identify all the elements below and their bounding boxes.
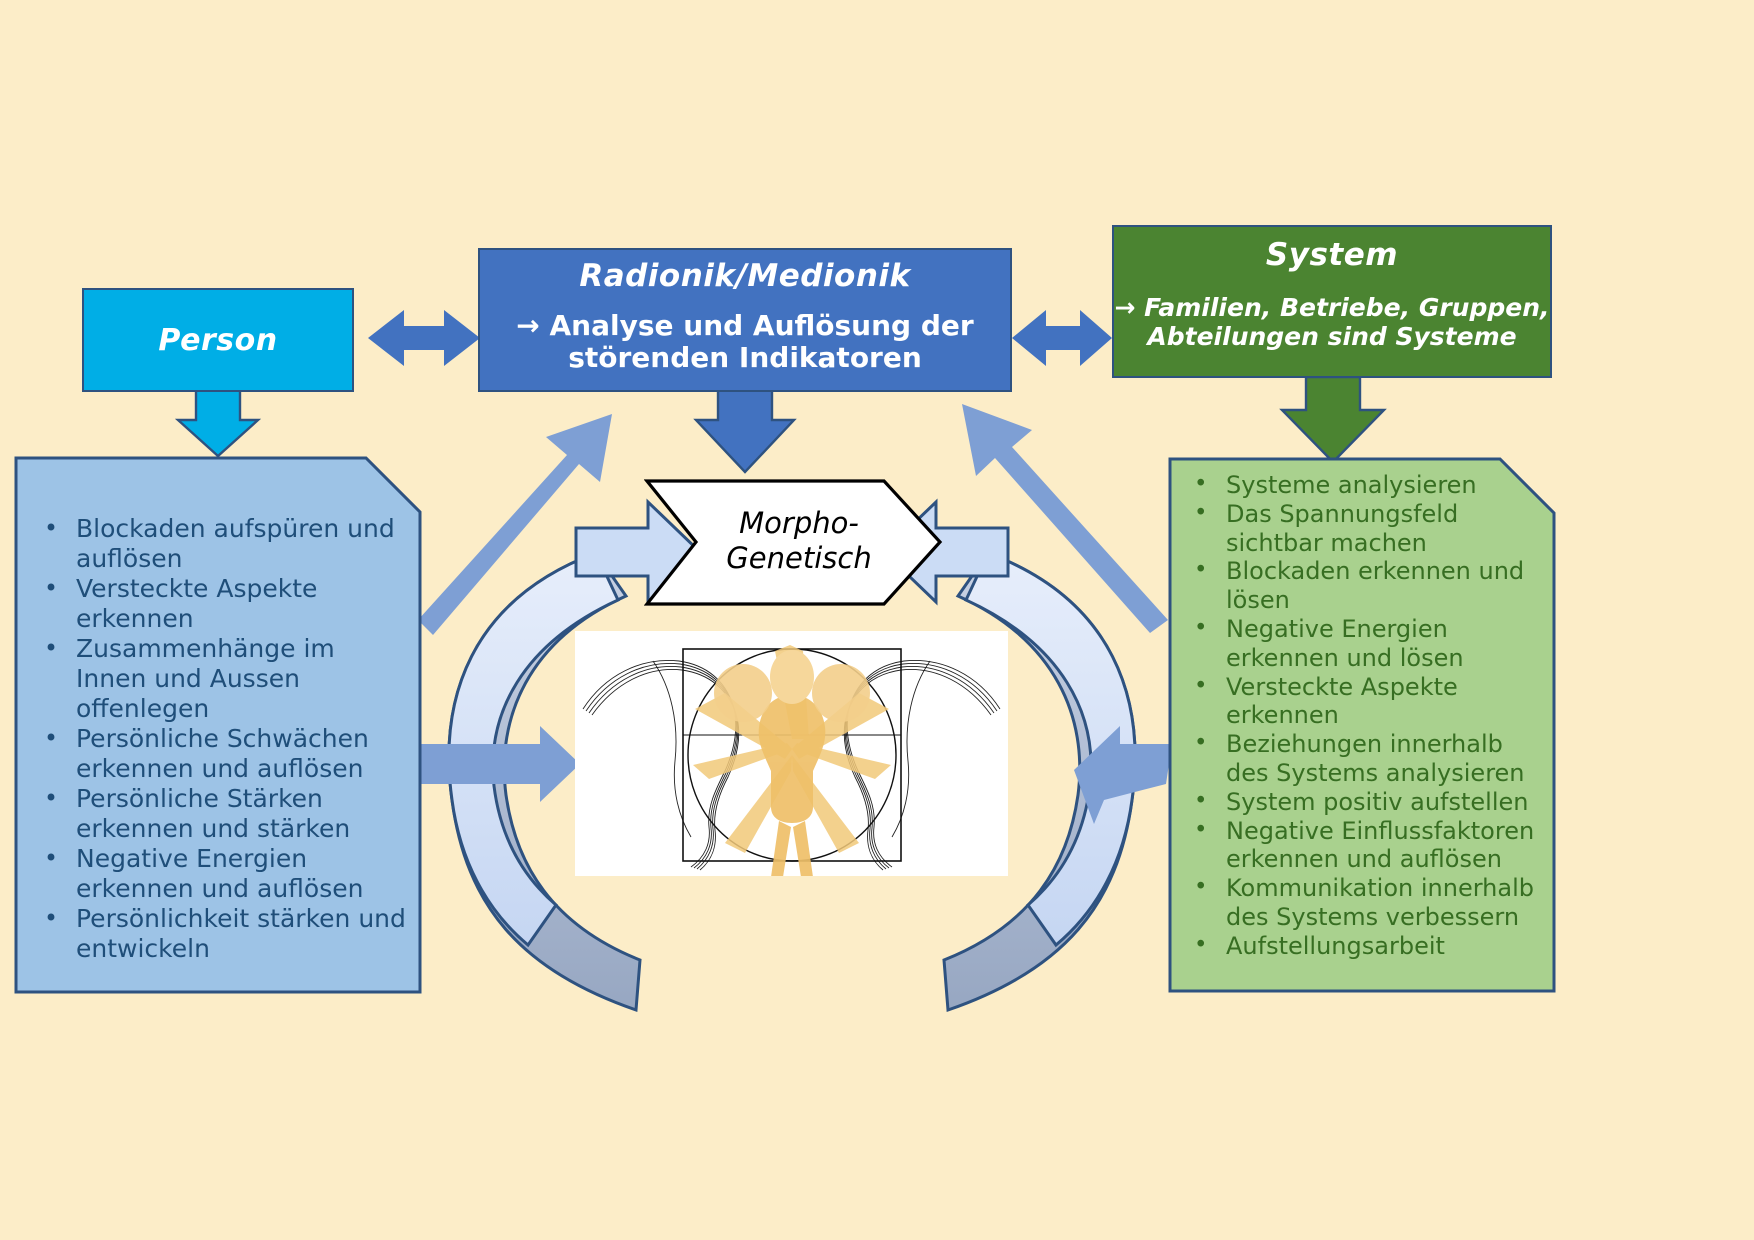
morpho-line-1: Morpho-: [739, 506, 859, 541]
morpho-genetisch-label-box: Morpho- Genetisch: [644, 478, 940, 604]
list-item: Das Spannungsfeld sichtbar machen: [1176, 500, 1546, 558]
radionik-subtitle-text: Analyse und Auflösung der störenden Indi…: [550, 309, 974, 374]
person-title: Person: [158, 323, 277, 358]
arrow-right-icon: →: [1114, 293, 1135, 322]
system-benefits-panel: Systeme analysieren Das Spannungsfeld si…: [1168, 457, 1552, 988]
system-box[interactable]: System → Familien, Betriebe, Gruppen, Ab…: [1112, 225, 1552, 378]
arrow-right-icon: →: [516, 309, 539, 342]
list-item: Persönliche Stärken erkennen und stärken: [26, 784, 408, 844]
list-item: Blockaden erkennen und lösen: [1176, 557, 1546, 615]
radionik-subtitle: → Analyse und Auflösung der störenden In…: [480, 310, 1010, 375]
system-subtitle-text: Familien, Betriebe, Gruppen, Abteilungen…: [1144, 293, 1549, 351]
list-item: Persönlichkeit stärken und entwickeln: [26, 904, 408, 964]
list-item: System positiv aufstellen: [1176, 788, 1546, 817]
list-item: Negative Energien erkennen und auflösen: [26, 844, 408, 904]
radionik-title: Radionik/Medionik: [579, 258, 910, 294]
list-item: Blockaden aufspüren und auflösen: [26, 514, 408, 574]
center-illustration: [575, 631, 1008, 876]
system-down-arrow: [1282, 377, 1384, 462]
list-item: Kommunikation innerhalb des Systems verb…: [1176, 874, 1546, 932]
person-benefits-panel: Blockaden aufspüren und auflösen Verstec…: [14, 456, 418, 988]
list-item: Systeme analysieren: [1176, 471, 1546, 500]
list-item: Negative Einflussfaktoren erkennen und a…: [1176, 817, 1546, 875]
list-item: Versteckte Aspekte erkennen: [26, 574, 408, 634]
person-down-arrow: [178, 390, 258, 456]
morpho-line-2: Genetisch: [726, 541, 871, 576]
system-benefits-list: Systeme analysieren Das Spannungsfeld si…: [1176, 471, 1546, 961]
radionik-down-arrow: [696, 390, 794, 472]
vitruvian-faces-illustration: [575, 631, 1008, 876]
person-radionik-double-arrow: [368, 310, 480, 366]
list-item: Persönliche Schwächen erkennen und auflö…: [26, 724, 408, 784]
list-item: Negative Energien erkennen und lösen: [1176, 615, 1546, 673]
list-item: Versteckte Aspekte erkennen: [1176, 673, 1546, 731]
list-item: Zusammenhänge im Innen und Aussen offenl…: [26, 634, 408, 724]
person-benefits-list: Blockaden aufspüren und auflösen Verstec…: [26, 514, 408, 964]
radionik-medionik-box[interactable]: Radionik/Medionik → Analyse und Auflösun…: [478, 248, 1012, 392]
list-item: Beziehungen innerhalb des Systems analys…: [1176, 730, 1546, 788]
radionik-system-double-arrow: [1012, 310, 1112, 366]
list-item: Aufstellungsarbeit: [1176, 932, 1546, 961]
person-box[interactable]: Person: [82, 288, 354, 392]
system-title: System: [1266, 237, 1398, 273]
diagram-canvas: Blockaden aufspüren und auflösen Verstec…: [0, 0, 1754, 1240]
system-subtitle: → Familien, Betriebe, Gruppen, Abteilung…: [1114, 293, 1550, 351]
